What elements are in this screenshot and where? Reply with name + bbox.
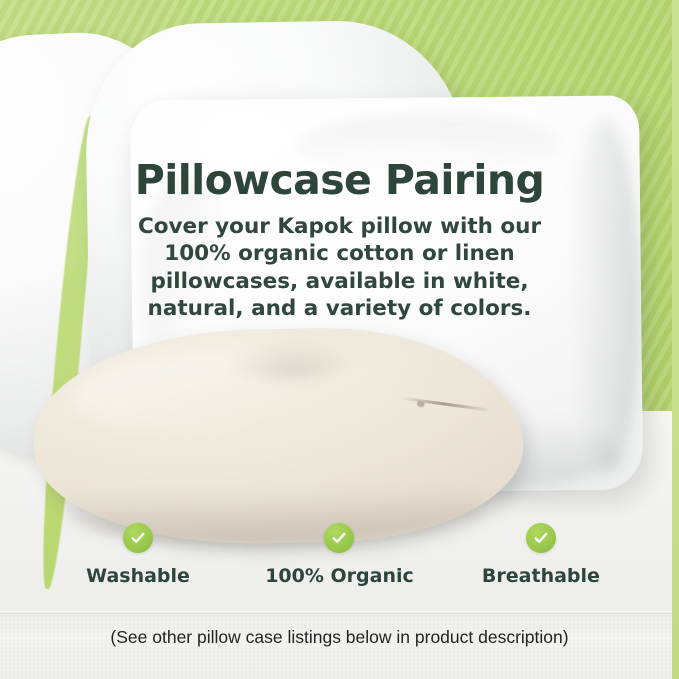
- product-marketing-image: Pillowcase Pairing Cover your Kapok pill…: [0, 0, 679, 679]
- feature-badge-breathable: Breathable: [441, 523, 640, 587]
- body-copy: Cover your Kapok pillow with our 100% or…: [130, 213, 550, 322]
- zipper-pull-icon: [417, 401, 425, 407]
- marketing-copy-block: Pillowcase Pairing Cover your Kapok pill…: [0, 156, 679, 322]
- zipper-icon: [400, 397, 488, 412]
- feature-badge-organic: 100% Organic: [240, 523, 439, 587]
- check-circle-icon: [526, 523, 556, 553]
- page-title: Pillowcase Pairing: [41, 156, 639, 204]
- footnote-text: (See other pillow case listings below in…: [0, 627, 679, 648]
- feature-badge-label: Breathable: [482, 565, 600, 587]
- feature-badge-label: Washable: [86, 565, 190, 587]
- check-circle-icon: [123, 523, 153, 553]
- bolster-highlight: [71, 348, 395, 440]
- feature-badge-washable: Washable: [38, 523, 237, 587]
- feature-badge-row: Washable 100% Organic Breathable: [0, 523, 679, 587]
- check-circle-icon: [324, 523, 354, 553]
- feature-badge-label: 100% Organic: [265, 565, 414, 587]
